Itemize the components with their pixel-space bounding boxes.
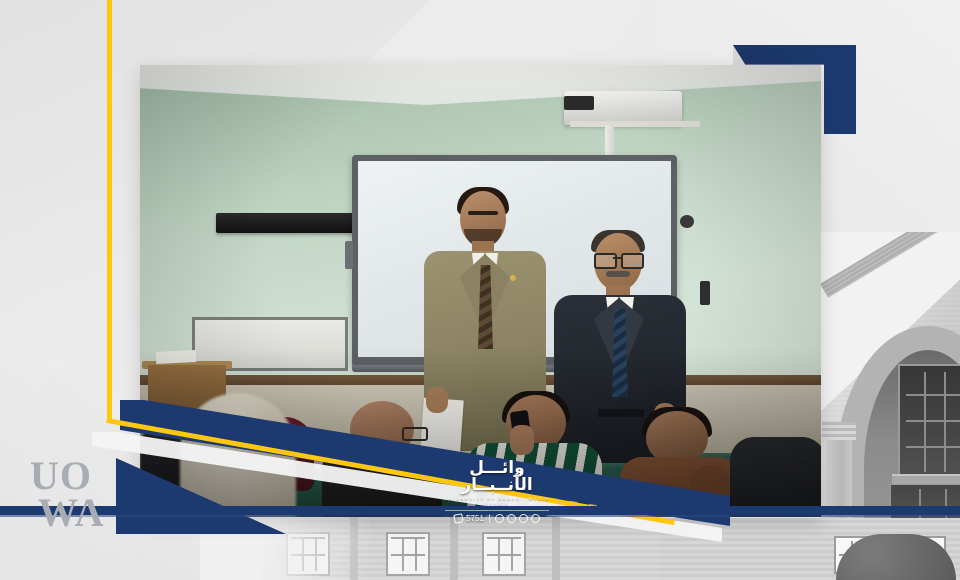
bay-window: [898, 364, 960, 480]
divider: [489, 514, 490, 523]
phone-number: 5751: [466, 514, 484, 523]
facade-column-3: [450, 516, 458, 580]
lens-left: [594, 253, 617, 269]
phone-contact[interactable]: 5751: [454, 514, 484, 523]
campus-building-photo-extension: [200, 516, 660, 580]
telegram-icon[interactable]: [531, 514, 540, 523]
instagram-icon[interactable]: [507, 514, 516, 523]
lens-right: [621, 253, 644, 269]
poster-canvas: UO WA وائـــل الأنــبــار UNIVERSITY OF …: [0, 0, 960, 580]
logo-latin-subtitle: UNIVERSITY OF ANBAR · MEDIA OFFICE: [438, 496, 556, 506]
media-office-logo: وائـــل الأنــبــار UNIVERSITY OF ANBAR …: [438, 460, 556, 506]
mustache: [606, 271, 630, 277]
papers-on-podium: [156, 350, 197, 364]
wall-sensor-2: [680, 215, 694, 228]
logo-divider: [445, 510, 549, 511]
projector-plate: [570, 121, 700, 127]
youtube-icon[interactable]: [519, 514, 528, 523]
eyeglasses: [402, 427, 428, 441]
capital-left: [822, 422, 856, 440]
raised-hand: [510, 425, 534, 455]
attendee-dark-shirt-right: [730, 437, 821, 517]
yellow-accent-line-vertical: [107, 0, 112, 422]
whiteboard-side-button: [345, 241, 353, 269]
bridge: [613, 257, 621, 259]
monogram-line-2: WA: [38, 495, 110, 532]
university-monogram: UO WA: [30, 458, 110, 530]
facade-window-3: [482, 532, 526, 576]
wall-box: [700, 281, 710, 305]
lapel-pin: [510, 275, 516, 281]
facebook-icon[interactable]: [495, 514, 504, 523]
logo-contact-row: 5751: [438, 514, 556, 523]
eyeglasses: [594, 253, 642, 265]
social-icons[interactable]: [495, 514, 540, 523]
facade-window-2: [386, 532, 430, 576]
projector-lens: [564, 96, 594, 110]
eyebrows: [468, 211, 498, 215]
logo-arabic-name: وائـــل الأنــبــار: [438, 460, 556, 494]
facade-column-4: [552, 516, 560, 580]
phone-icon: [453, 513, 464, 524]
